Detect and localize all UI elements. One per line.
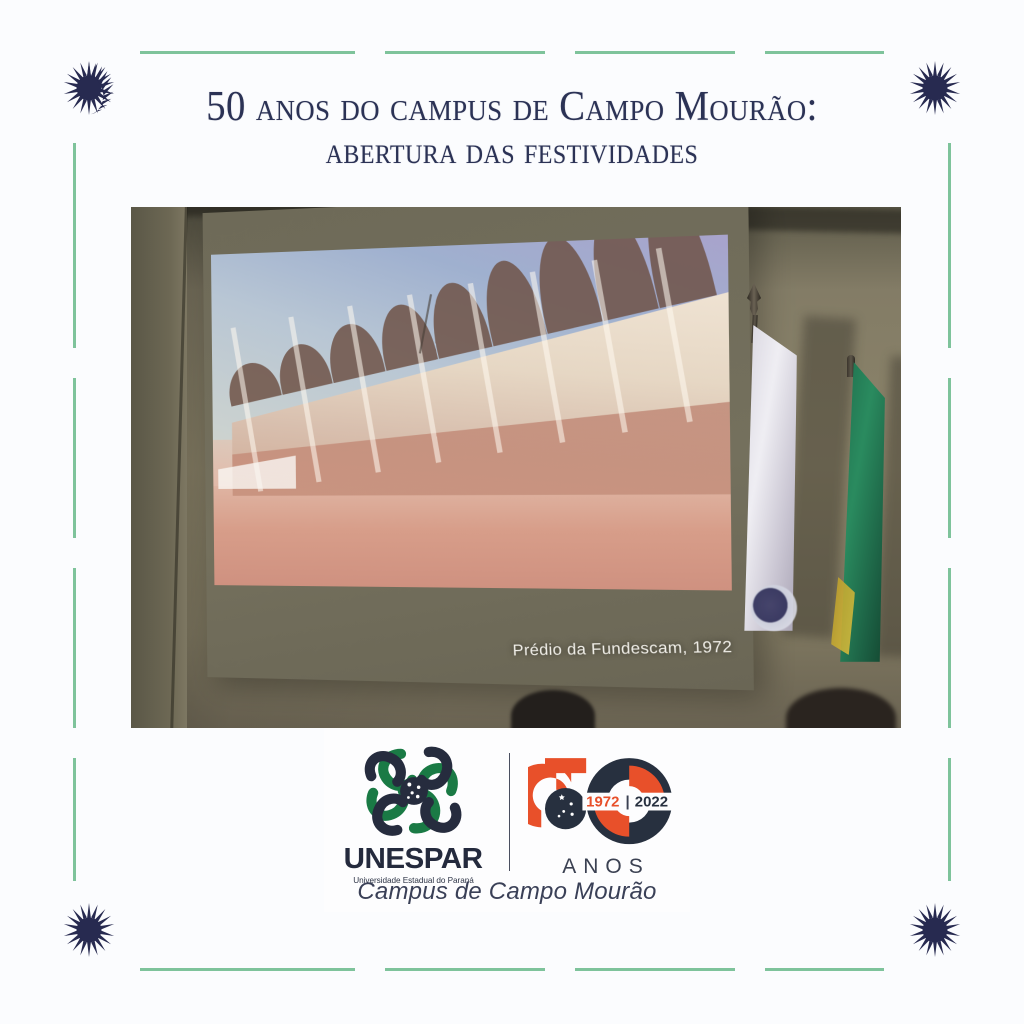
logo-divider [509, 753, 510, 871]
50-anos-emblem-icon: 1972 | 2022 [528, 745, 678, 861]
campus-label: Campus de Campo Mourão [324, 878, 690, 906]
frame-line-left-c [73, 568, 76, 728]
frame-line-bottom-right [765, 968, 884, 971]
frame-line-top-right [765, 51, 884, 54]
page-title-line-2: abertura das festividades [41, 133, 983, 171]
poster-canvas: 50 anos do campus de Campo Mourão: abert… [0, 0, 1024, 1024]
anniversary-logo: 1972 | 2022 ANOS [522, 745, 684, 879]
frame-line-left-a [73, 143, 76, 348]
anniversary-label: ANOS [555, 855, 650, 879]
event-photo: Prédio da Fundescam, 1972 [131, 207, 901, 728]
frame-line-bottom-left [140, 968, 355, 971]
frame-line-left-b [73, 378, 76, 538]
projected-slide-image [211, 235, 732, 591]
frame-line-top-center-b [575, 51, 735, 54]
slide-ground [213, 484, 731, 591]
starburst-icon-bottom-left [62, 903, 116, 957]
slide-caption: Prédio da Fundescam, 1972 [207, 638, 733, 664]
anniversary-year-separator: | [625, 794, 629, 811]
anniversary-year-end: 2022 [634, 794, 667, 811]
frame-line-top-center-a [385, 51, 545, 54]
logo-row: UNESPAR Universidade Estadual do Paraná [324, 736, 690, 888]
frame-line-right-b [948, 378, 951, 538]
frame-line-right-a [948, 143, 951, 348]
unespar-logo: UNESPAR Universidade Estadual do Paraná [331, 739, 497, 885]
frame-line-top-left [140, 51, 355, 54]
starburst-icon-bottom-right [908, 903, 962, 957]
parana-flag-emblem-icon [751, 585, 797, 631]
frame-line-bottom-center-b [575, 968, 735, 971]
frame-line-bottom-center-a [385, 968, 545, 971]
anniversary-year-start: 1972 [586, 794, 619, 811]
page-title-line-1: 50 anos do campus de Campo Mourão: [41, 86, 983, 129]
unespar-pinwheel-icon [356, 739, 472, 843]
frame-line-left-d [73, 758, 76, 881]
unespar-wordmark: UNESPAR [344, 845, 483, 874]
projection-screen: Prédio da Fundescam, 1972 [203, 207, 754, 690]
frame-line-right-c [948, 568, 951, 728]
frame-line-right-d [948, 758, 951, 881]
logo-panel: UNESPAR Universidade Estadual do Paraná [324, 728, 690, 912]
page-title: 50 anos do campus de Campo Mourão: abert… [0, 86, 1024, 171]
